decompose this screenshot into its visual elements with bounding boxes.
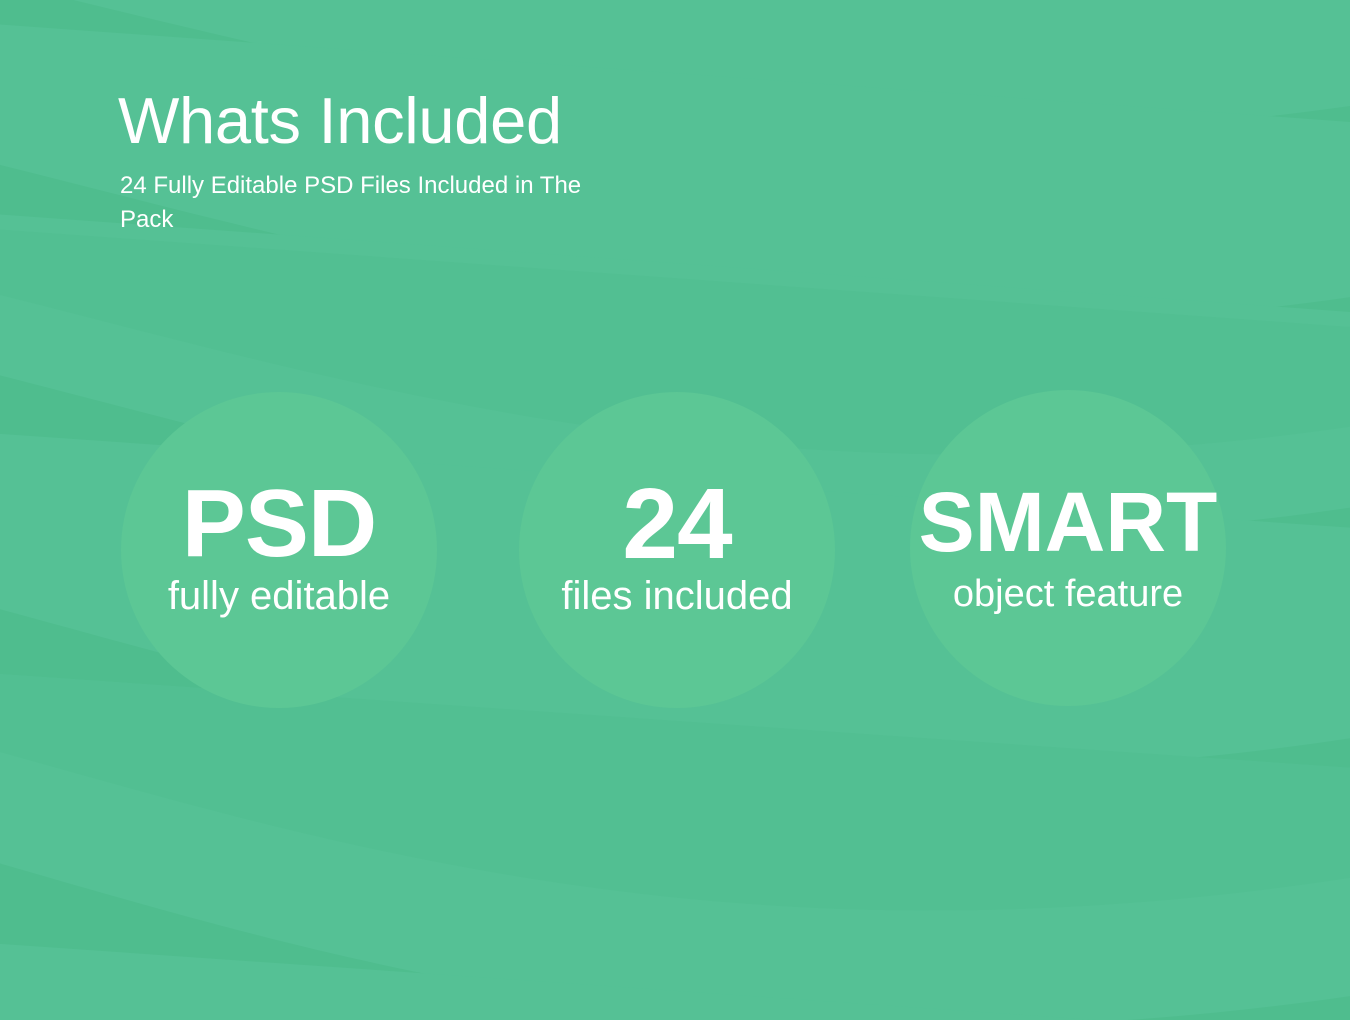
feature-title: PSD	[182, 480, 376, 568]
feature-subtitle: files included	[561, 572, 792, 620]
feature-subtitle: fully editable	[168, 572, 390, 620]
page-subtitle: 24 Fully Editable PSD Files Included in …	[120, 169, 590, 237]
feature-circle-smart-object[interactable]: SMART object feature	[910, 390, 1226, 706]
feature-circle-files-count[interactable]: 24 files included	[519, 392, 835, 708]
page-title: Whats Included	[118, 88, 818, 153]
header-block: Whats Included 24 Fully Editable PSD Fil…	[118, 88, 818, 237]
feature-subtitle: object feature	[953, 570, 1183, 618]
slide-canvas: Whats Included 24 Fully Editable PSD Fil…	[0, 0, 1350, 1020]
feature-title: SMART	[919, 478, 1218, 566]
feature-circle-psd[interactable]: PSD fully editable	[121, 392, 437, 708]
feature-title: 24	[622, 480, 731, 568]
